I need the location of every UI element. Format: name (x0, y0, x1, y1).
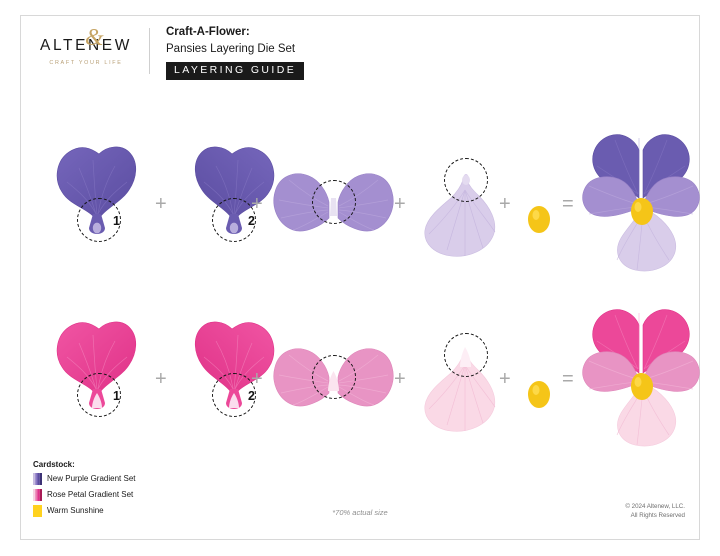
step-cell-pink-2: 2 (176, 291, 286, 461)
swatch-new-purple-gradient-icon (33, 473, 42, 485)
operator-plus-purple-1: + (155, 194, 167, 214)
copyright-line-2: All Rights Reserved (625, 512, 685, 521)
operator-equals-purple: = (562, 194, 574, 214)
step-marker-circle-purple-4 (444, 158, 488, 202)
copyright-notice: © 2024 Altenew, LLC. All Rights Reserved (625, 503, 685, 521)
operator-plus-pink-1: + (155, 369, 167, 389)
pansy-row-pink: 1 + (21, 291, 699, 461)
legend-item-rose-petal: Rose Petal Gradient Set (33, 489, 263, 501)
logo-wordmark: ALTENEW & (40, 37, 132, 55)
title-block: Craft-A-Flower: Pansies Layering Die Set… (166, 22, 304, 80)
altenew-logo: ALTENEW & CRAFT YOUR LIFE (31, 37, 141, 66)
step-cell-purple-5 (519, 116, 559, 286)
operator-plus-purple-3: + (394, 194, 406, 214)
guide-page: ALTENEW & CRAFT YOUR LIFE Craft-A-Flower… (20, 15, 700, 540)
logo-wordmark-text: ALTENEW (40, 37, 132, 54)
step-marker-circle-purple-3 (312, 180, 356, 224)
step-cell-pink-1: 1 (43, 291, 153, 461)
page-subtitle: Pansies Layering Die Set (166, 41, 304, 58)
center-dot-pink (519, 291, 559, 461)
operator-plus-purple-2: + (251, 194, 263, 214)
step-cell-pink-3 (271, 291, 396, 461)
layering-guide-banner: LAYERING GUIDE (166, 62, 304, 80)
scale-note: *70% actual size (21, 508, 699, 517)
operator-plus-pink-3: + (394, 369, 406, 389)
logo-tagline: CRAFT YOUR LIFE (31, 60, 141, 66)
page-title: Craft-A-Flower: (166, 24, 304, 41)
assembled-flower-purple (581, 116, 701, 286)
legend-label-new-purple: New Purple Gradient Set (47, 475, 136, 483)
step-marker-circle-pink-3 (312, 355, 356, 399)
legend-label-rose-petal: Rose Petal Gradient Set (47, 491, 133, 499)
step-cell-purple-2: 2 (176, 116, 286, 286)
operator-equals-pink: = (562, 369, 574, 389)
header-divider (149, 28, 150, 74)
step-number-pink-1: 1 (113, 390, 120, 403)
step-cell-pink-5 (519, 291, 559, 461)
step-number-purple-1: 1 (113, 215, 120, 228)
step-cell-purple-3 (271, 116, 396, 286)
copyright-line-1: © 2024 Altenew, LLC. (625, 503, 685, 512)
operator-plus-pink-2: + (251, 369, 263, 389)
assembled-flower-pink (581, 291, 701, 461)
legend-item-new-purple: New Purple Gradient Set (33, 473, 263, 485)
pansy-row-purple: 1 + (21, 116, 699, 286)
center-dot-purple (519, 116, 559, 286)
step-cell-purple-1: 1 (43, 116, 153, 286)
step-number-purple-2: 2 (248, 215, 255, 228)
step-marker-circle-pink-4 (444, 333, 488, 377)
operator-plus-pink-4: + (499, 369, 511, 389)
legend-title: Cardstock: (33, 460, 263, 469)
assembled-pansy-pink (581, 291, 701, 461)
page-header: ALTENEW & CRAFT YOUR LIFE Craft-A-Flower… (21, 16, 699, 86)
operator-plus-purple-4: + (499, 194, 511, 214)
swatch-rose-petal-gradient-icon (33, 489, 42, 501)
step-number-pink-2: 2 (248, 390, 255, 403)
assembled-pansy-purple (581, 116, 701, 286)
